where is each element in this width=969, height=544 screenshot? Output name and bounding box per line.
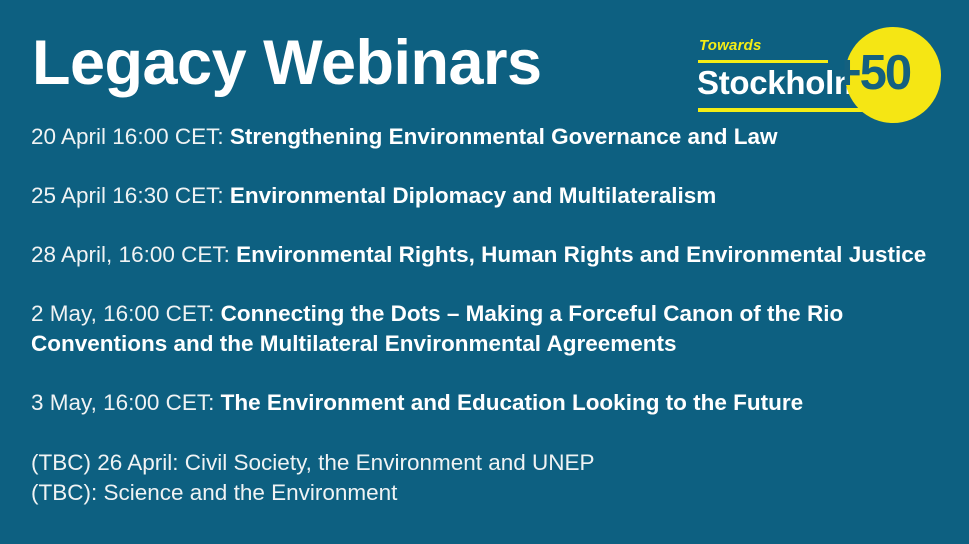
logo-rule-top xyxy=(698,60,828,63)
list-item: 28 April, 16:00 CET: Environmental Right… xyxy=(31,240,941,270)
webinar-datetime: 25 April 16:30 CET: xyxy=(31,183,230,208)
stockholm-plus-50-logo: Towards Stockholm +50 xyxy=(693,25,948,125)
webinar-datetime: 20 April 16:00 CET: xyxy=(31,124,230,149)
webinar-datetime: 3 May, 16:00 CET: xyxy=(31,390,221,415)
webinar-topic: The Environment and Education Looking to… xyxy=(221,390,804,415)
webinar-list: 20 April 16:00 CET: Strengthening Enviro… xyxy=(31,122,941,447)
page-title: Legacy Webinars xyxy=(32,30,542,96)
webinar-datetime: 2 May, 16:00 CET: xyxy=(31,301,221,326)
webinar-announcement-slide: Legacy Webinars Towards Stockholm +50 20… xyxy=(0,0,969,544)
logo-towards-label: Towards xyxy=(699,38,762,53)
list-item: 20 April 16:00 CET: Strengthening Enviro… xyxy=(31,122,941,152)
webinar-topic: Environmental Rights, Human Rights and E… xyxy=(236,242,926,267)
webinar-topic: Environmental Diplomacy and Multilateral… xyxy=(230,183,716,208)
list-item: (TBC) 26 April: Civil Society, the Envir… xyxy=(31,448,941,478)
list-item: 3 May, 16:00 CET: The Environment and Ed… xyxy=(31,388,941,418)
webinar-topic: Strengthening Environmental Governance a… xyxy=(230,124,778,149)
list-item: 2 May, 16:00 CET: Connecting the Dots – … xyxy=(31,299,941,359)
logo-plus50-label: +50 xyxy=(833,49,910,98)
list-item: 25 April 16:30 CET: Environmental Diplom… xyxy=(31,181,941,211)
logo-rule-bottom xyxy=(698,108,876,112)
tbc-list: (TBC) 26 April: Civil Society, the Envir… xyxy=(31,448,941,508)
webinar-datetime: 28 April, 16:00 CET: xyxy=(31,242,236,267)
list-item: (TBC): Science and the Environment xyxy=(31,478,941,508)
